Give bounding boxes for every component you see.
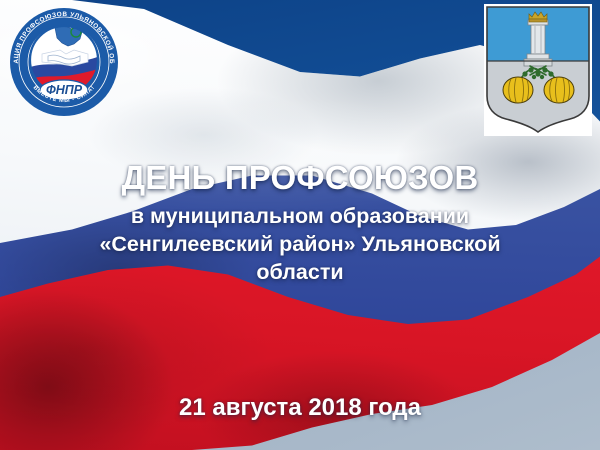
poster-text-block: ДЕНЬ ПРОФСОЮЗОВ в муниципальном образова…: [0, 160, 600, 287]
logo-fnpr-text: ФНПР: [46, 83, 83, 97]
poster-subtitle-line-1: в муниципальном образовании: [30, 202, 570, 230]
poster-canvas: ФНПР ФЕДЕРАЦИЯ ПРОФСОЮЗОВ УЛЬЯНОВСКОЙ ОБ…: [0, 0, 600, 450]
poster-subtitle-line-2: «Сенгилеевский район» Ульяновской: [30, 230, 570, 258]
poster-date: 21 августа 2018 года: [0, 394, 600, 422]
coat-of-arms: [484, 4, 592, 136]
fnpr-logo: ФНПР ФЕДЕРАЦИЯ ПРОФСОЮЗОВ УЛЬЯНОВСКОЙ ОБ…: [8, 6, 120, 118]
coat-melon-right: [544, 77, 574, 103]
poster-subtitle-line-3: области: [30, 258, 570, 286]
coat-melon-left: [503, 77, 533, 103]
poster-headline: ДЕНЬ ПРОФСОЮЗОВ: [14, 160, 586, 196]
